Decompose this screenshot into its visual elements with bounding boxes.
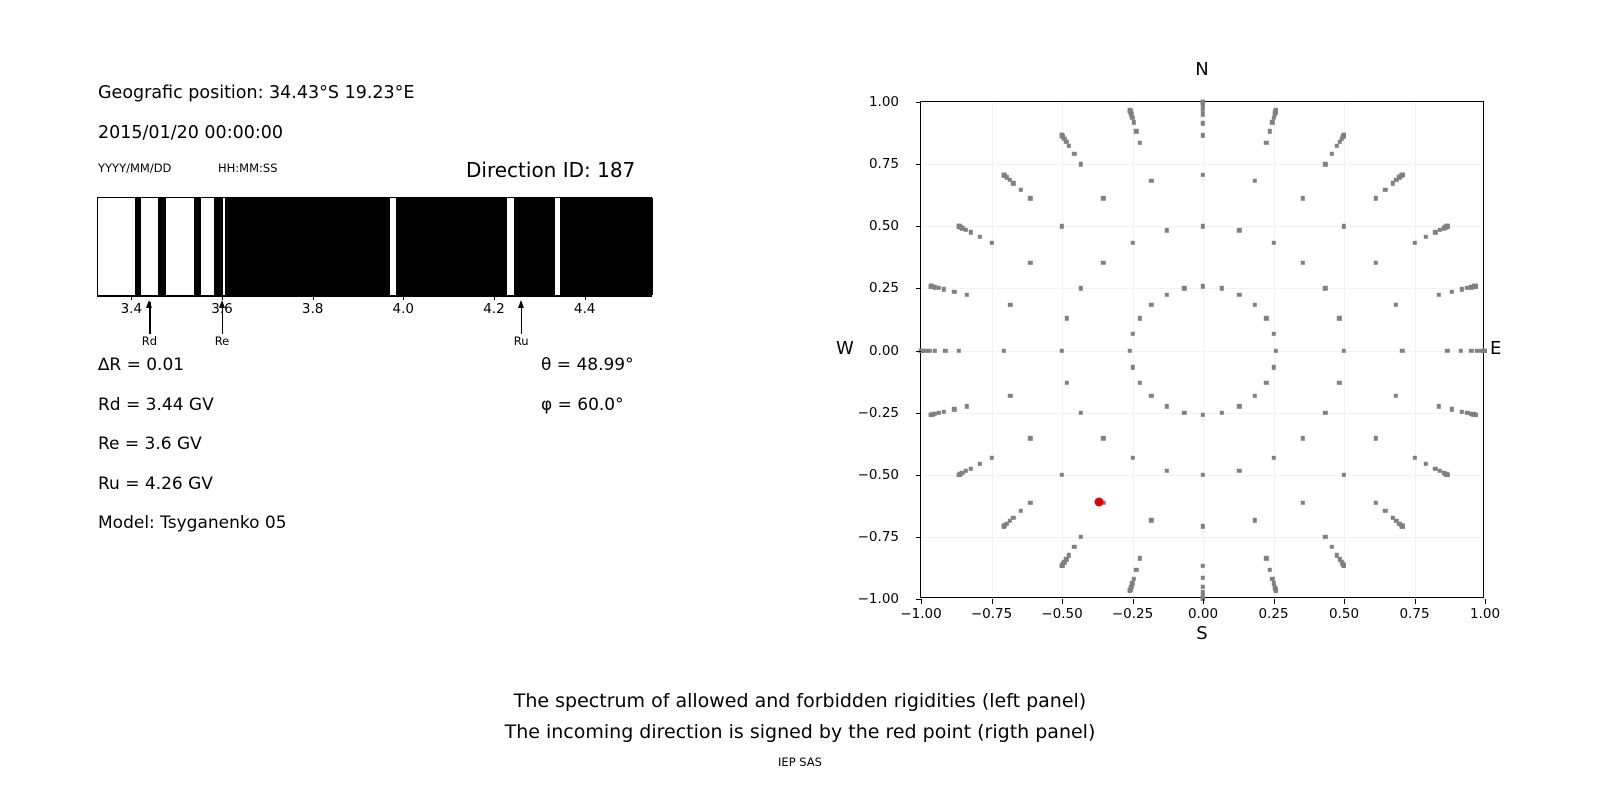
direction-dot [1079, 410, 1083, 414]
direction-dot [1201, 284, 1205, 288]
direction-dot [1138, 380, 1142, 384]
direction-dot [1149, 518, 1153, 522]
direction-dot [1270, 120, 1274, 124]
direction-dot [1072, 545, 1076, 549]
direction-dot [952, 407, 956, 411]
plot-y-tick-label: −0.25 [858, 405, 899, 421]
direction-dot [1424, 462, 1428, 466]
direction-dot [1330, 545, 1334, 549]
axis-line [97, 296, 652, 297]
direction-dot [1335, 144, 1339, 148]
direction-dot [1483, 348, 1487, 352]
direction-dot [1237, 293, 1241, 297]
direction-dot [1412, 241, 1416, 245]
plot-y-tick [916, 102, 921, 103]
spectrum-tick [313, 296, 314, 300]
direction-dot [1300, 196, 1304, 200]
direction-dot [1271, 332, 1275, 336]
direction-dot [1342, 224, 1346, 228]
direction-dot [1019, 509, 1023, 513]
plot-x-tick [992, 599, 993, 604]
direction-dot [1060, 563, 1064, 567]
direction-dot [936, 286, 940, 290]
direction-dot [936, 411, 940, 415]
direction-dot [1164, 228, 1168, 232]
direction-dot [1264, 556, 1268, 560]
direction-dot [1373, 436, 1377, 440]
direction-dot [1130, 332, 1134, 336]
direction-dot [943, 348, 947, 352]
direction-dot [1138, 316, 1142, 320]
direction-dot [1128, 348, 1132, 352]
direction-dot [1252, 394, 1256, 398]
marker-label: Rd [142, 334, 157, 348]
direction-dot [989, 456, 993, 460]
direction-dot [927, 348, 931, 352]
direction-dot [1130, 365, 1134, 369]
direction-dot [1028, 436, 1032, 440]
direction-dot [1450, 290, 1454, 294]
direction-dot [1079, 535, 1083, 539]
direction-dot [933, 348, 937, 352]
forbidden-band [225, 198, 390, 295]
direction-dot [1300, 500, 1304, 504]
direction-dot [1164, 293, 1168, 297]
direction-dot [969, 230, 973, 234]
direction-dot [1450, 407, 1454, 411]
direction-dot [1028, 196, 1032, 200]
plot-x-tick-label: 0.00 [1188, 606, 1218, 622]
direction-dot [1271, 241, 1275, 245]
direction-dot [1252, 518, 1256, 522]
plot-y-tick [916, 537, 921, 538]
spectrum-tick [403, 296, 404, 300]
spectrum-tick-label: 4.4 [574, 301, 595, 317]
direction-dot [1237, 404, 1241, 408]
plot-y-tick-label: 0.50 [869, 218, 899, 234]
plot-y-tick [916, 226, 921, 227]
direction-dot [1131, 120, 1135, 124]
direction-dot [1342, 348, 1346, 352]
direction-dot [1201, 585, 1205, 589]
direction-dot [1067, 144, 1071, 148]
direction-dot [1271, 456, 1275, 460]
direction-dot [1437, 404, 1441, 408]
direction-dot [1101, 436, 1105, 440]
direction-dot [1220, 410, 1224, 414]
plot-x-tick-label: −0.25 [1112, 606, 1153, 622]
forbidden-band [135, 198, 141, 295]
figure-caption: The spectrum of allowed and forbidden ri… [0, 686, 1600, 748]
plot-y-tick [916, 475, 921, 476]
plot-x-tick [1415, 599, 1416, 604]
gridline-vertical [992, 102, 993, 597]
plot-x-tick [1274, 599, 1275, 604]
plot-y-tick-label: 0.75 [869, 156, 899, 172]
param-ru: Ru = 4.26 GV [98, 474, 213, 494]
direction-dot [1028, 500, 1032, 504]
direction-dot [1001, 348, 1005, 352]
direction-dot [1267, 129, 1271, 133]
direction-dot [1011, 181, 1015, 185]
direction-dot [1323, 286, 1327, 290]
plot-y-tick-label: 0.25 [869, 280, 899, 296]
forbidden-band [194, 198, 201, 295]
direction-dot [1001, 173, 1005, 177]
compass-label-west: W [836, 338, 854, 359]
gridline-vertical [1133, 102, 1134, 597]
spectrum-x-axis: 3.43.63.84.04.24.4 [97, 296, 652, 344]
direction-dot [989, 241, 993, 245]
direction-dot [1182, 286, 1186, 290]
direction-dot [1393, 303, 1397, 307]
direction-dot [1342, 563, 1346, 567]
plot-x-tick-label: 0.50 [1329, 606, 1359, 622]
direction-dot [1373, 260, 1377, 264]
incoming-direction-panel: N S W E −1.00−0.75−0.50−0.250.000.250.50… [760, 0, 1600, 660]
direction-dot [1201, 473, 1205, 477]
direction-dot [1460, 409, 1464, 413]
direction-dot [1473, 284, 1477, 288]
direction-dot [1323, 162, 1327, 166]
direction-dot [1101, 260, 1105, 264]
direction-dot [1383, 188, 1387, 192]
direction-dot [1445, 348, 1449, 352]
direction-dot [957, 473, 961, 477]
spectrum-tick-label: 3.4 [121, 301, 142, 317]
param-model: Model: Tsyganenko 05 [98, 513, 287, 533]
compass-label-east: E [1490, 338, 1501, 359]
direction-dot [1134, 129, 1138, 133]
direction-dot [1373, 196, 1377, 200]
direction-dot [1072, 152, 1076, 156]
direction-dot [1065, 316, 1069, 320]
direction-dot [1373, 500, 1377, 504]
direction-dot [957, 224, 961, 228]
plot-y-tick-label: 1.00 [869, 94, 899, 110]
spectrum-tick-label: 3.8 [302, 301, 323, 317]
direction-dot [942, 287, 946, 291]
direction-dot [1164, 468, 1168, 472]
forbidden-band [158, 198, 166, 295]
datetime-label: 2015/01/20 00:00:00 [98, 123, 283, 143]
direction-dot [1201, 112, 1205, 116]
direction-dot [1060, 133, 1064, 137]
direction-dot [1101, 196, 1105, 200]
param-phi: φ = 60.0° [541, 395, 624, 415]
direction-dot [1164, 404, 1168, 408]
plot-x-tick [1485, 599, 1486, 604]
direction-dot [1019, 188, 1023, 192]
direction-dot [1342, 473, 1346, 477]
direction-dot [1201, 524, 1205, 528]
direction-dot [1400, 173, 1404, 177]
direction-dot [1393, 394, 1397, 398]
gridline-horizontal [921, 288, 1483, 289]
direction-dot [1138, 140, 1142, 144]
plot-y-tick [916, 351, 921, 352]
direction-dot [1028, 260, 1032, 264]
marker-label: Ru [514, 334, 529, 348]
direction-dot [1400, 524, 1404, 528]
forbidden-band [396, 198, 507, 295]
direction-dot [952, 290, 956, 294]
direction-dot [1469, 348, 1473, 352]
gridline-horizontal [921, 164, 1483, 165]
spectrum-tick-label: 4.0 [393, 301, 414, 317]
spectrum-tick [131, 296, 132, 300]
direction-dot [1201, 100, 1205, 104]
plot-x-tick [1203, 599, 1204, 604]
direction-dot [1201, 121, 1205, 125]
direction-id-label: Direction ID: 187 [466, 158, 635, 182]
date-format-hint: YYYY/MM/DD [98, 161, 171, 175]
direction-dot [1300, 260, 1304, 264]
plot-x-tick [1133, 599, 1134, 604]
direction-dot [1458, 348, 1462, 352]
direction-dot [1330, 152, 1334, 156]
direction-dot [928, 284, 932, 288]
direction-dot [1271, 365, 1275, 369]
incoming-direction-point [1094, 498, 1103, 507]
footer-credit: IEP SAS [0, 755, 1600, 769]
compass-label-south: S [1196, 623, 1207, 644]
direction-dot [942, 409, 946, 413]
direction-dot [1445, 473, 1449, 477]
direction-dot [1008, 394, 1012, 398]
direction-dot [1264, 380, 1268, 384]
plot-y-tick-label: −0.75 [858, 529, 899, 545]
plot-y-tick-label: 0.00 [869, 343, 899, 359]
plot-x-tick-label: 0.75 [1399, 606, 1429, 622]
direction-dot [1138, 556, 1142, 560]
direction-dot [1149, 179, 1153, 183]
direction-dot [1149, 394, 1153, 398]
direction-scatter-plot: −1.00−0.75−0.50−0.250.000.250.500.751.00… [920, 101, 1484, 598]
rigidity-spectrum-panel: Geografic position: 34.43°S 19.23°E 2015… [0, 0, 760, 620]
direction-dot [1201, 173, 1205, 177]
direction-dot [1300, 436, 1304, 440]
direction-dot [1323, 410, 1327, 414]
plot-x-tick-label: −1.00 [900, 606, 941, 622]
direction-dot [957, 348, 961, 352]
plot-x-tick [1062, 599, 1063, 604]
direction-dot [1460, 287, 1464, 291]
direction-dot [1267, 568, 1271, 572]
direction-dot [1079, 162, 1083, 166]
direction-dot [1424, 235, 1428, 239]
marker-arrow-icon [146, 300, 152, 308]
direction-dot [1342, 133, 1346, 137]
geographic-position-label: Geografic position: 34.43°S 19.23°E [98, 83, 414, 103]
direction-dot [1201, 133, 1205, 137]
direction-dot [1130, 241, 1134, 245]
plot-x-tick-label: −0.75 [971, 606, 1012, 622]
caption-line-2: The incoming direction is signed by the … [0, 717, 1600, 748]
direction-dot [1274, 108, 1278, 112]
direction-dot [1130, 456, 1134, 460]
direction-dot [1060, 348, 1064, 352]
param-theta: θ = 48.99° [541, 355, 634, 375]
gridline-vertical [1415, 102, 1416, 597]
direction-dot [978, 235, 982, 239]
direction-dot [1008, 303, 1012, 307]
param-re: Re = 3.6 GV [98, 434, 202, 454]
direction-dot [1252, 179, 1256, 183]
plot-y-tick-label: −0.50 [858, 467, 899, 483]
direction-dot [1337, 380, 1341, 384]
direction-dot [1128, 108, 1132, 112]
forbidden-band [514, 198, 555, 295]
direction-dot [1473, 413, 1477, 417]
marker-arrow-icon [518, 300, 524, 308]
direction-dot [1337, 316, 1341, 320]
param-delta-r: ∆R = 0.01 [98, 355, 184, 375]
direction-dot [1134, 568, 1138, 572]
direction-dot [1264, 140, 1268, 144]
direction-dot [1274, 588, 1278, 592]
direction-dot [1252, 303, 1256, 307]
direction-dot [1079, 286, 1083, 290]
direction-dot [1001, 524, 1005, 528]
direction-dot [1060, 473, 1064, 477]
plot-x-tick-label: 1.00 [1470, 606, 1500, 622]
direction-dot [1445, 224, 1449, 228]
plot-x-tick-label: 0.25 [1258, 606, 1288, 622]
direction-dot [1201, 224, 1205, 228]
forbidden-band [214, 198, 223, 295]
direction-dot [1128, 588, 1132, 592]
direction-dot [1011, 515, 1015, 519]
direction-dot [978, 462, 982, 466]
plot-y-tick [916, 413, 921, 414]
direction-dot [969, 466, 973, 470]
direction-dot [1237, 468, 1241, 472]
direction-dot [965, 404, 969, 408]
compass-label-north: N [1195, 59, 1208, 80]
direction-dot [1237, 228, 1241, 232]
plot-x-tick [1344, 599, 1345, 604]
marker-arrow-icon [219, 300, 225, 308]
direction-dot [1274, 348, 1278, 352]
direction-dot [1323, 535, 1327, 539]
direction-dot [1412, 456, 1416, 460]
direction-dot [928, 413, 932, 417]
direction-dot [1264, 316, 1268, 320]
direction-dot [965, 293, 969, 297]
direction-dot [1149, 303, 1153, 307]
forbidden-band [560, 198, 653, 295]
gridline-horizontal [921, 537, 1483, 538]
plot-x-tick-label: −0.50 [1041, 606, 1082, 622]
spectrum-tick [494, 296, 495, 300]
direction-dot [1437, 293, 1441, 297]
direction-dot [1400, 348, 1404, 352]
plot-y-tick [916, 164, 921, 165]
direction-dot [1182, 410, 1186, 414]
direction-dot [1220, 286, 1224, 290]
spectrum-tick [585, 296, 586, 300]
caption-line-1: The spectrum of allowed and forbidden ri… [0, 686, 1600, 717]
direction-dot [1383, 509, 1387, 513]
plot-x-tick [921, 599, 922, 604]
spectrum-bar [97, 197, 652, 296]
direction-dot [1201, 564, 1205, 568]
plot-y-tick [916, 288, 921, 289]
direction-dot [1065, 380, 1069, 384]
param-rd: Rd = 3.44 GV [98, 395, 214, 415]
direction-dot [1201, 575, 1205, 579]
direction-dot [1060, 224, 1064, 228]
rigidity-spectrum-chart [97, 197, 652, 296]
direction-dot [1201, 413, 1205, 417]
time-format-hint: HH:MM:SS [218, 161, 278, 175]
spectrum-tick-label: 4.2 [483, 301, 504, 317]
plot-y-tick-label: −1.00 [858, 591, 899, 607]
marker-label: Re [215, 334, 230, 348]
